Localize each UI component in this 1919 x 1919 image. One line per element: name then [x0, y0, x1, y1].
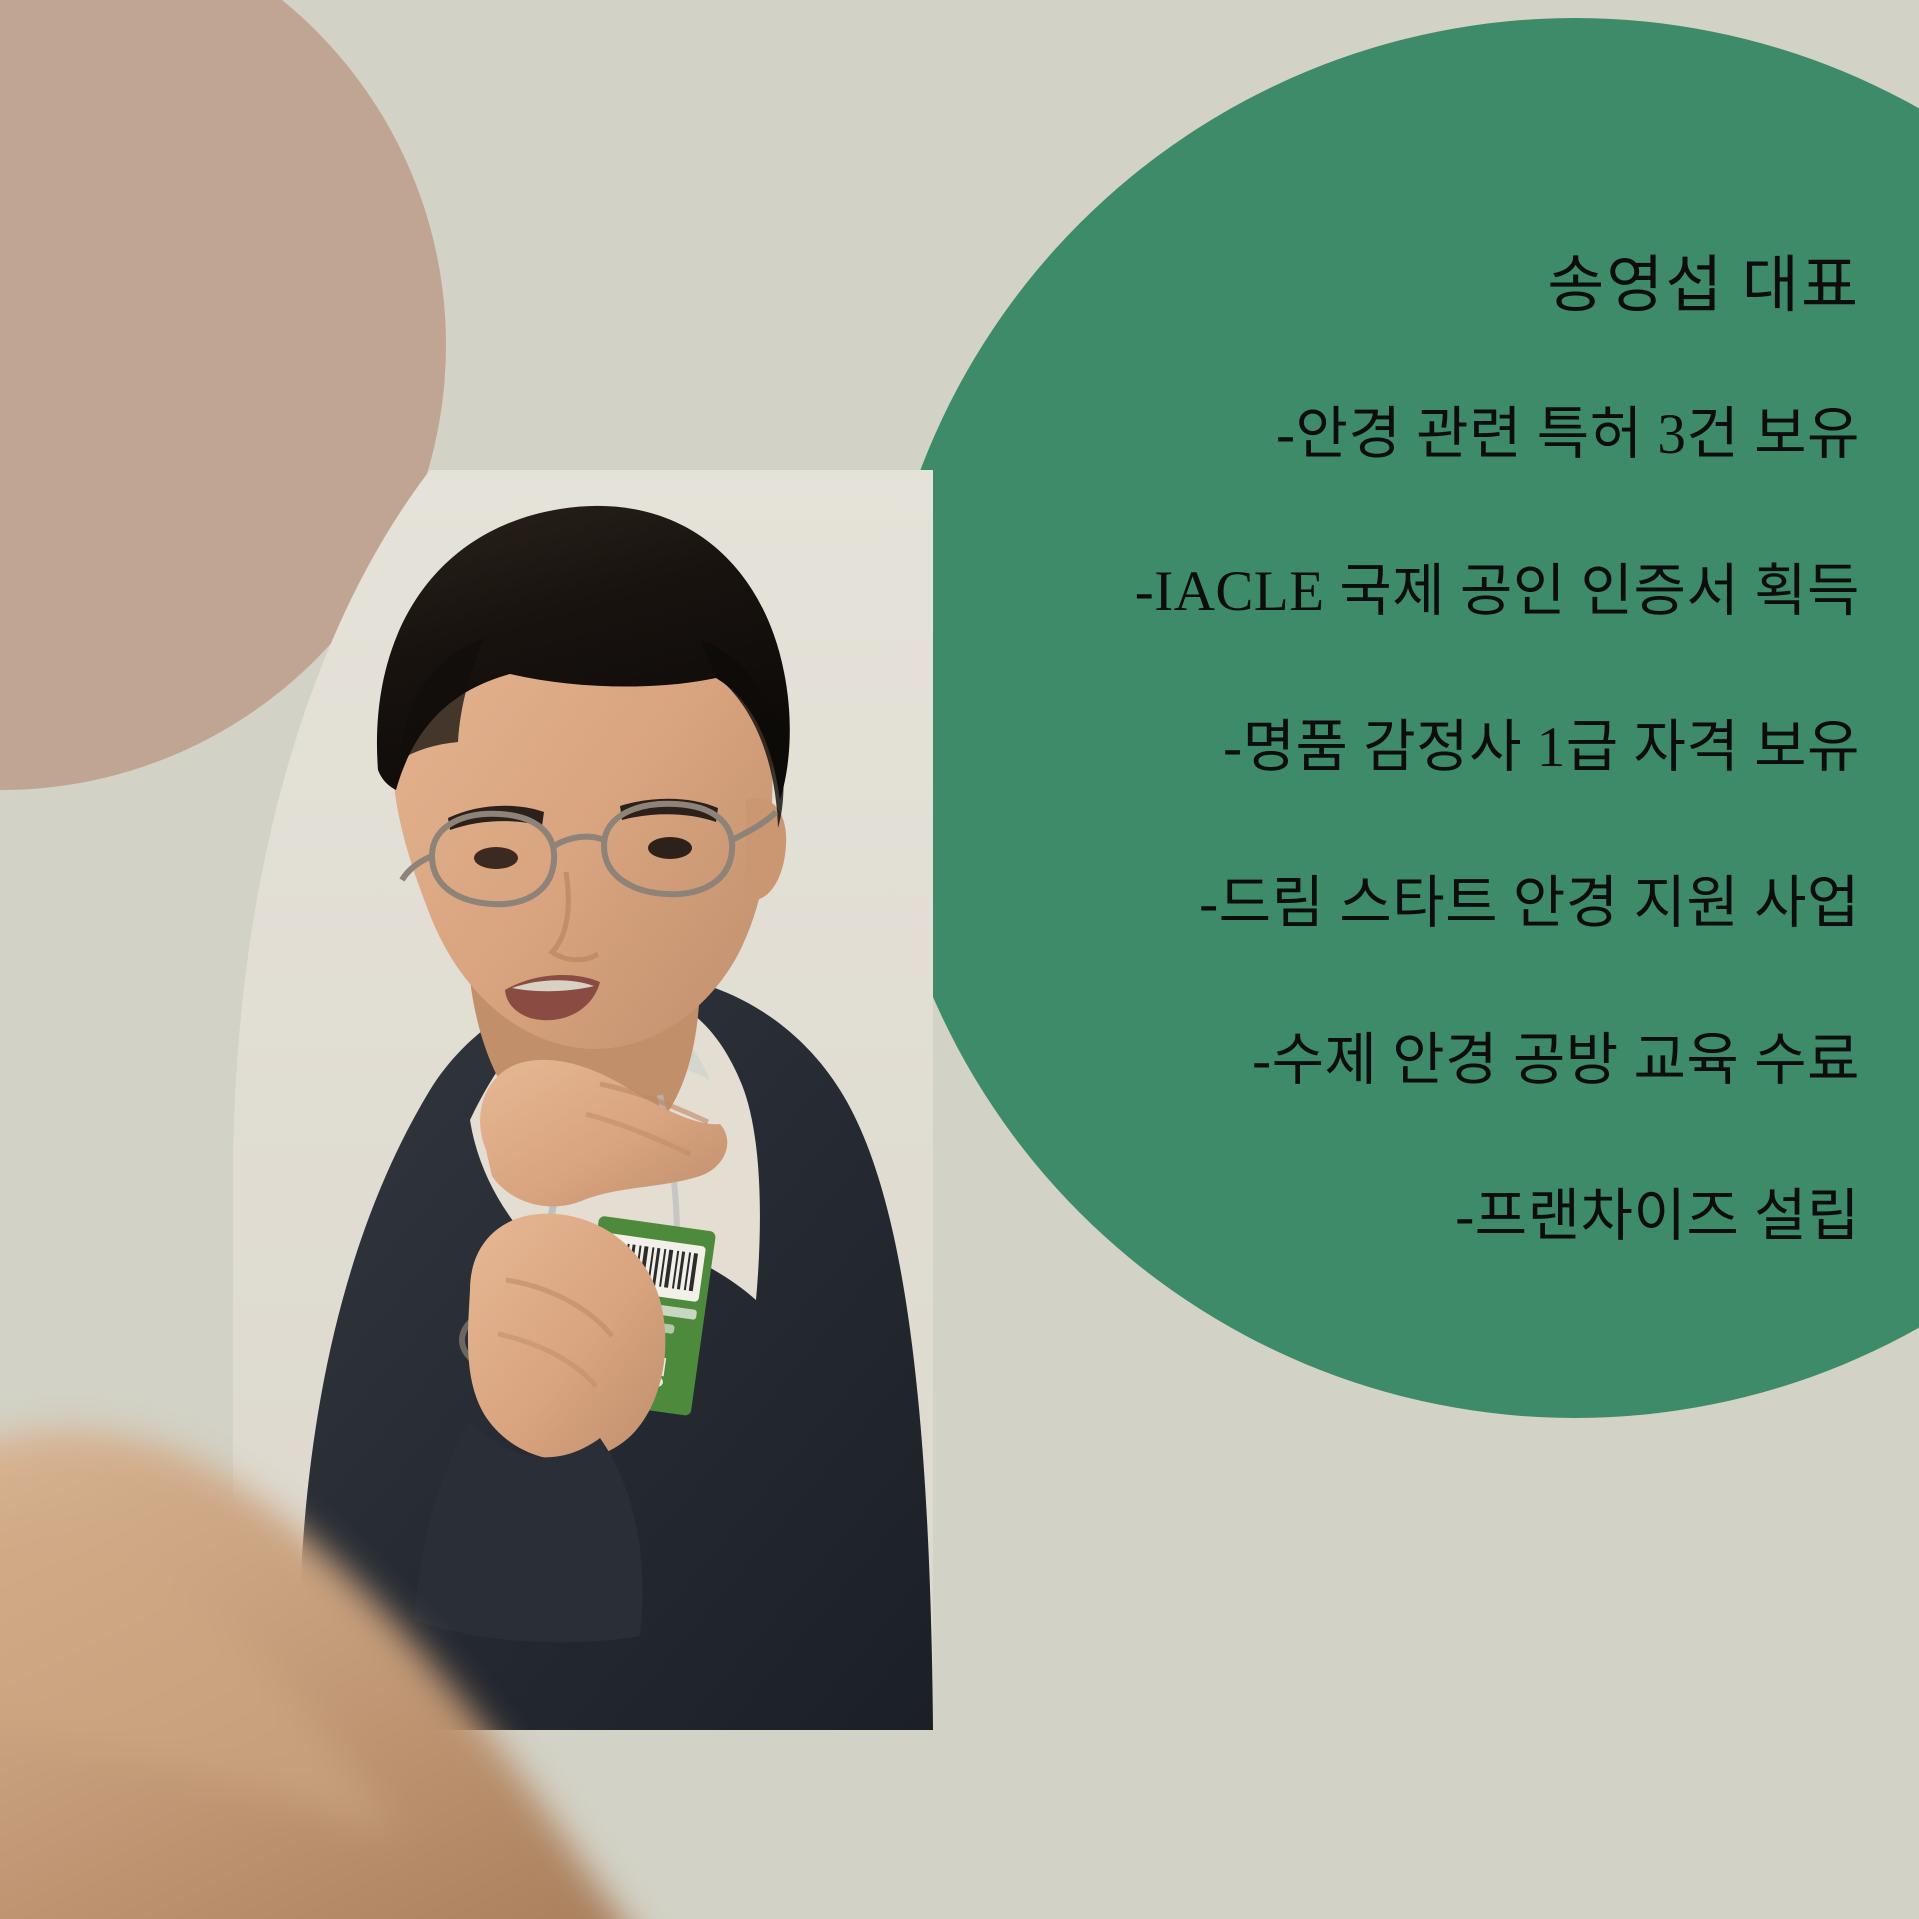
credentials-panel: 송영섭 대표 -안경 관련 특허 3건 보유 -IACLE 국제 공인 인증서 …: [820, 250, 1860, 1252]
list-item: -수제 안경 공방 교육 수료: [820, 1027, 1860, 1095]
credentials-list: -안경 관련 특허 3건 보유 -IACLE 국제 공인 인증서 획득 -명품 …: [820, 401, 1860, 1251]
page-title: 송영섭 대표: [820, 250, 1860, 323]
poster-canvas: 안경: [0, 0, 1919, 1919]
list-item: -드림 스타트 안경 지원 사업: [820, 870, 1860, 938]
list-item: -안경 관련 특허 3건 보유: [820, 401, 1860, 469]
svg-text:안경: 안경: [603, 1348, 670, 1394]
dusty-rose-circle-decoration: [0, 0, 446, 790]
list-item: -IACLE 국제 공인 인증서 획득: [820, 558, 1860, 626]
list-item: -명품 감정사 1급 자격 보유: [820, 714, 1860, 782]
blurred-foreground-arm: [0, 1245, 890, 1919]
list-item: -프랜차이즈 설립: [820, 1183, 1860, 1251]
